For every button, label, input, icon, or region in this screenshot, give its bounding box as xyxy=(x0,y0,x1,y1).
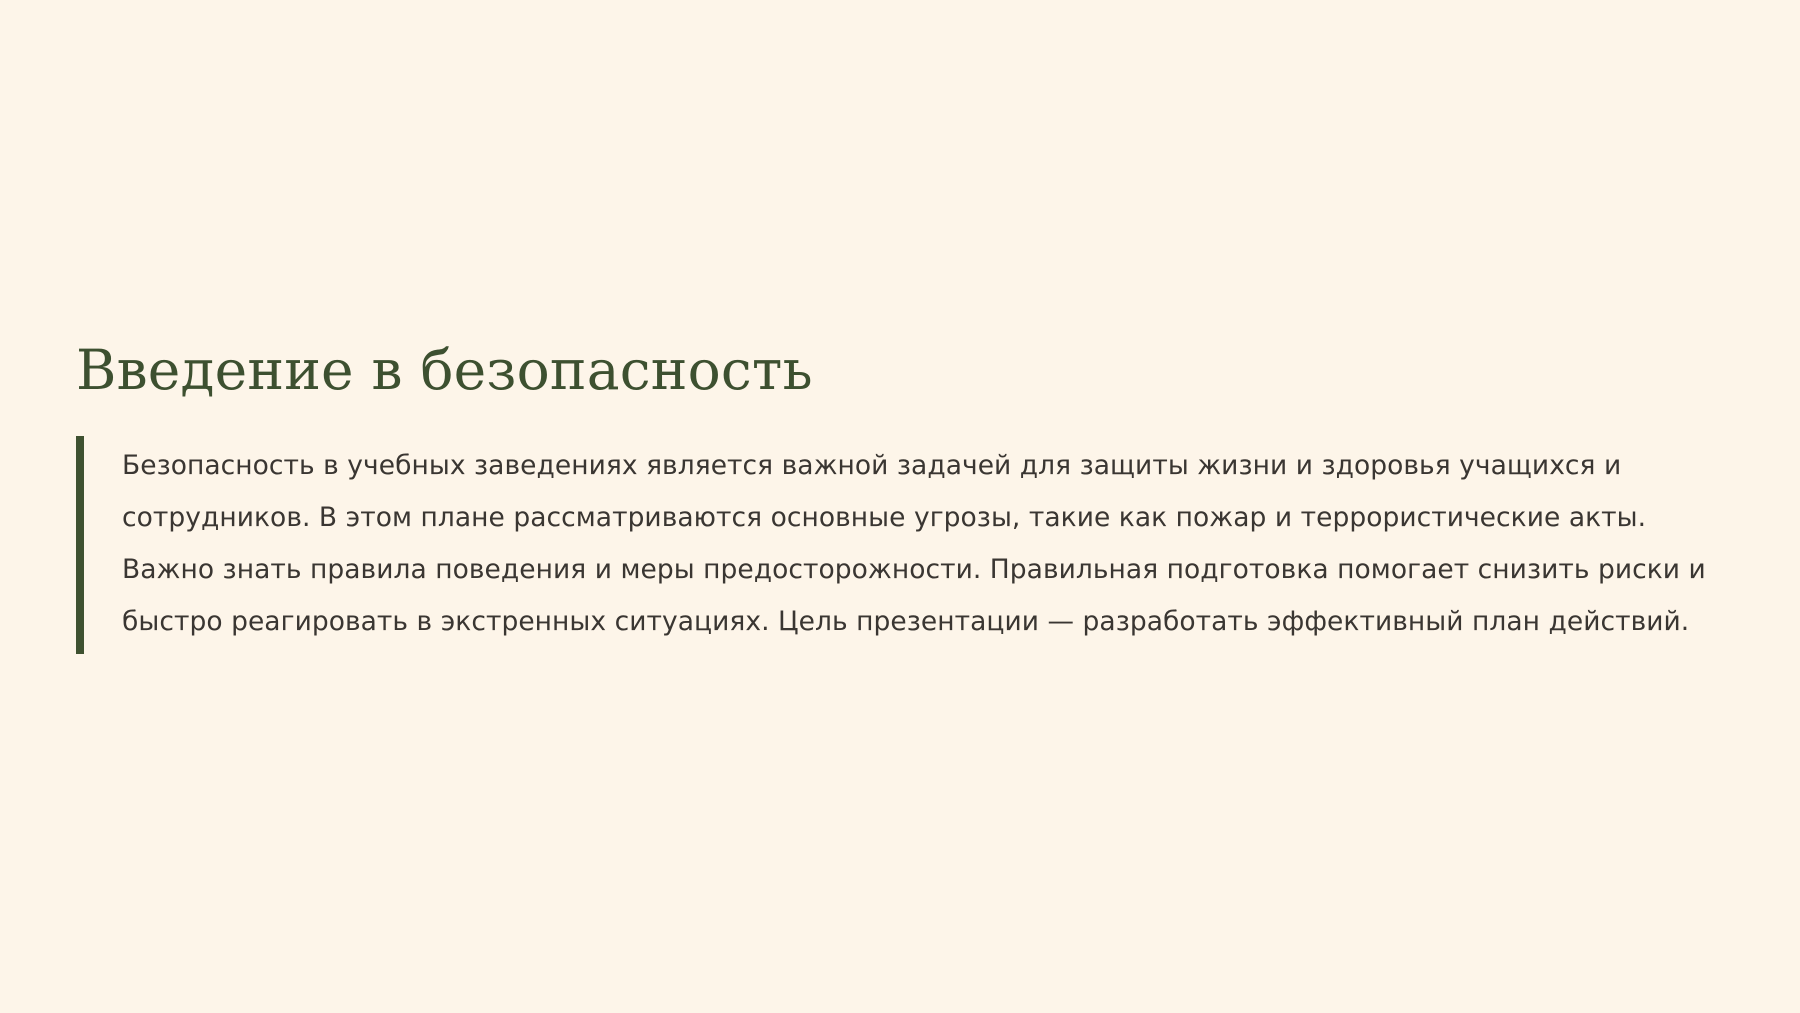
slide-body-text: Безопасность в учебных заведениях являет… xyxy=(122,436,1712,654)
slide-content: Введение в безопасность Безопасность в у… xyxy=(76,340,1716,654)
slide-title: Введение в безопасность xyxy=(76,340,1716,402)
body-block: Безопасность в учебных заведениях являет… xyxy=(76,436,1716,654)
accent-bar xyxy=(76,436,84,654)
presentation-slide: Введение в безопасность Безопасность в у… xyxy=(0,0,1800,1013)
